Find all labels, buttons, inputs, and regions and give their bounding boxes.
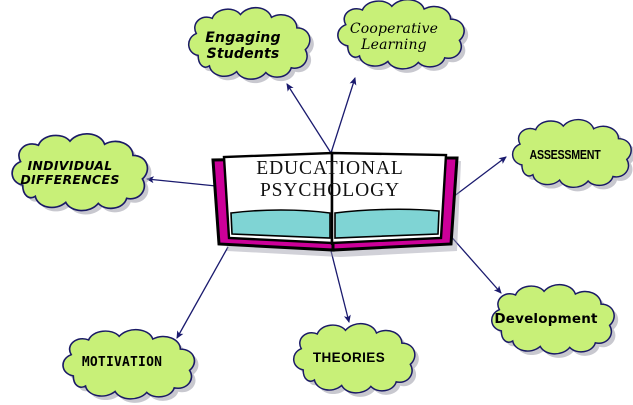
- center-node-open-book[interactable]: [213, 153, 461, 257]
- arrow-to-engaging-students: [287, 84, 331, 153]
- node-theories[interactable]: [294, 324, 419, 397]
- book-page-band-right: [335, 209, 439, 238]
- node-assessment[interactable]: [513, 120, 633, 192]
- arrow-to-theories: [330, 247, 349, 322]
- book-page-band-left: [231, 210, 330, 238]
- node-development[interactable]: [492, 285, 618, 358]
- arrow-to-individual-differences: [147, 179, 216, 186]
- arrow-to-cooperative-learning: [331, 78, 355, 153]
- concept-map-canvas: EDUCATIONAL PSYCHOLOGY Engaging Students…: [0, 0, 633, 405]
- node-cooperative-learning[interactable]: [338, 0, 468, 73]
- node-engaging-students[interactable]: [189, 8, 314, 83]
- diagram-svg: [0, 0, 633, 405]
- node-motivation[interactable]: [63, 330, 198, 403]
- node-individual-differences[interactable]: [12, 134, 151, 215]
- arrow-to-motivation: [177, 247, 228, 338]
